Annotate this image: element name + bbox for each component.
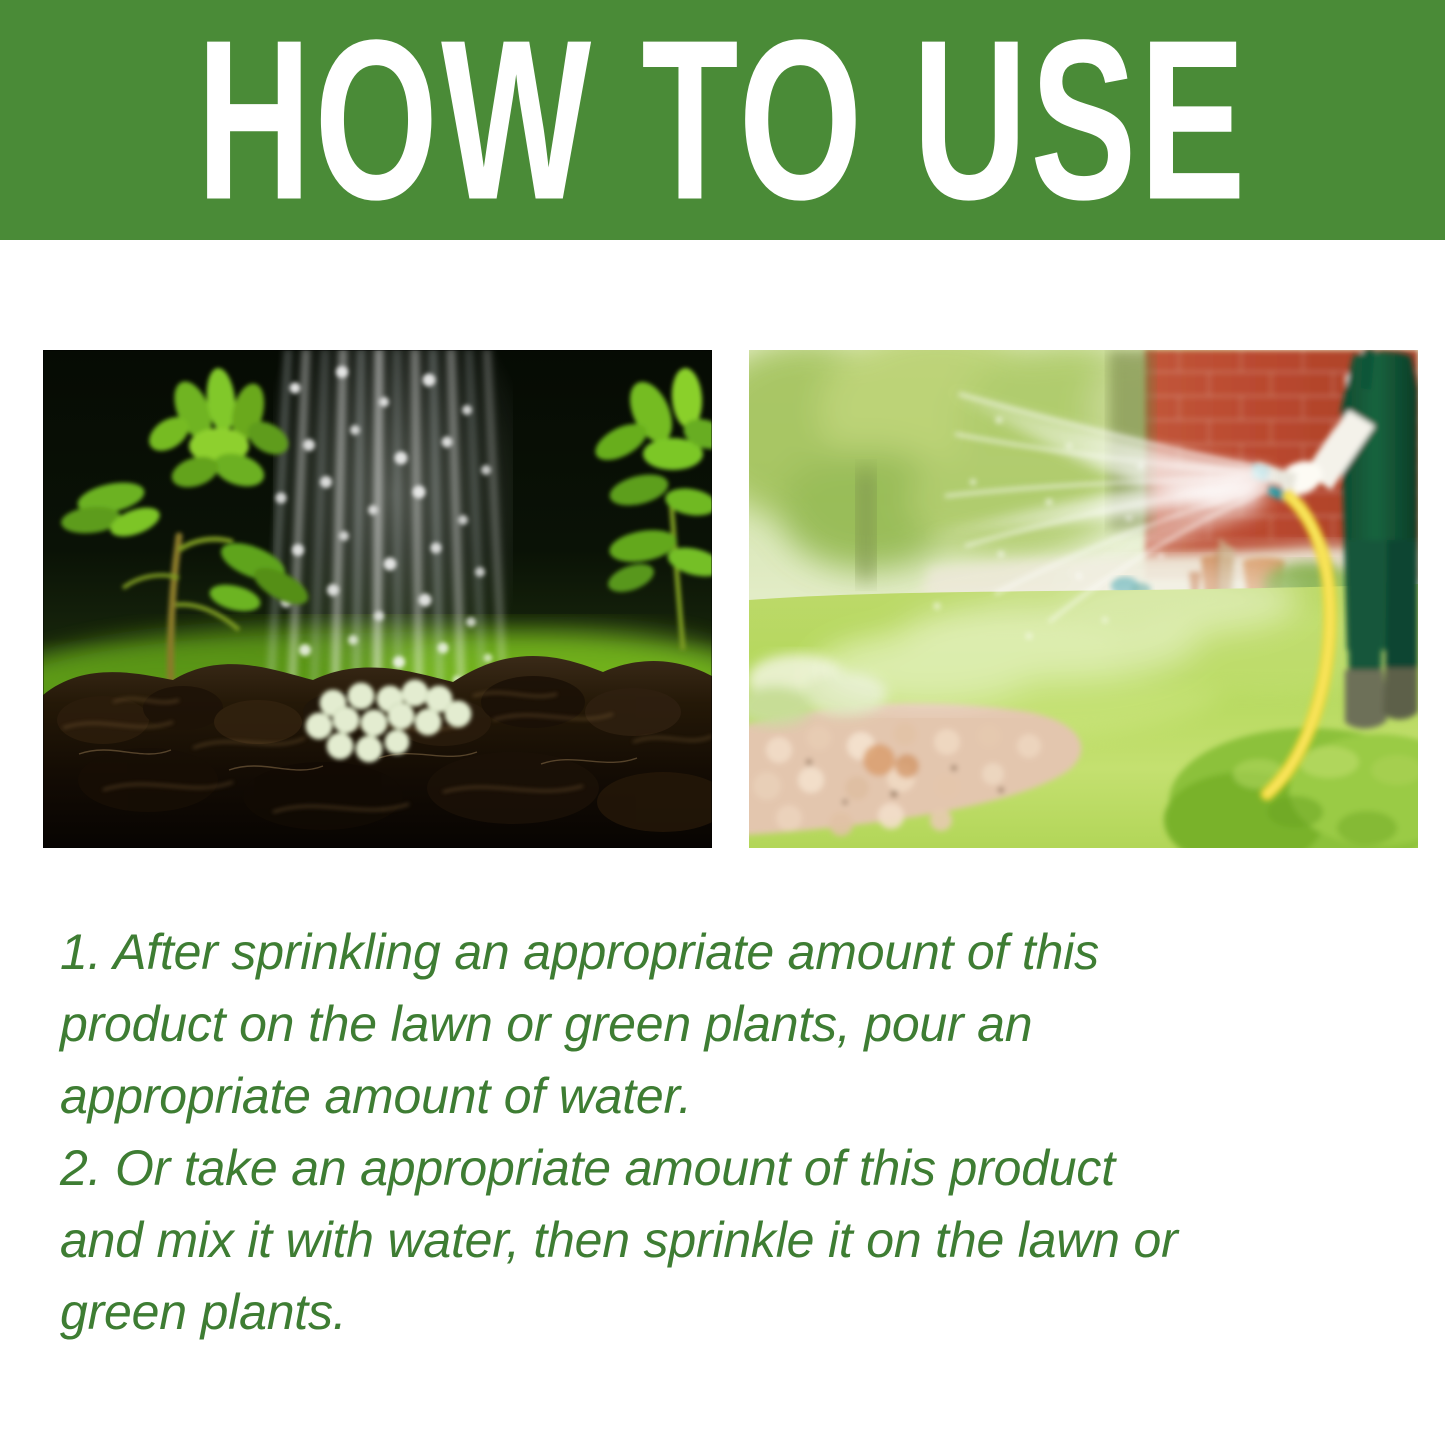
photo-watering-seedlings — [43, 350, 712, 848]
instruction-line: 1. After sprinkling an appropriate amoun… — [60, 916, 1400, 988]
instruction-line: 2. Or take an appropriate amount of this… — [60, 1132, 1400, 1204]
instruction-line: appropriate amount of water. — [60, 1060, 1400, 1132]
header-banner: HOW TO USE — [0, 0, 1445, 240]
photo-row — [43, 350, 1418, 848]
page-title: HOW TO USE — [188, 0, 1257, 240]
instruction-line: and mix it with water, then sprinkle it … — [60, 1204, 1400, 1276]
gardener-spraying-illustration — [749, 350, 1418, 848]
watering-seedlings-illustration — [43, 350, 712, 848]
photo-gardener-spraying-lawn — [749, 350, 1418, 848]
instruction-line: green plants. — [60, 1276, 1400, 1348]
product-infographic-page: HOW TO USE — [0, 0, 1445, 1445]
instructions-block: 1. After sprinkling an appropriate amoun… — [60, 916, 1400, 1348]
instruction-line: product on the lawn or green plants, pou… — [60, 988, 1400, 1060]
